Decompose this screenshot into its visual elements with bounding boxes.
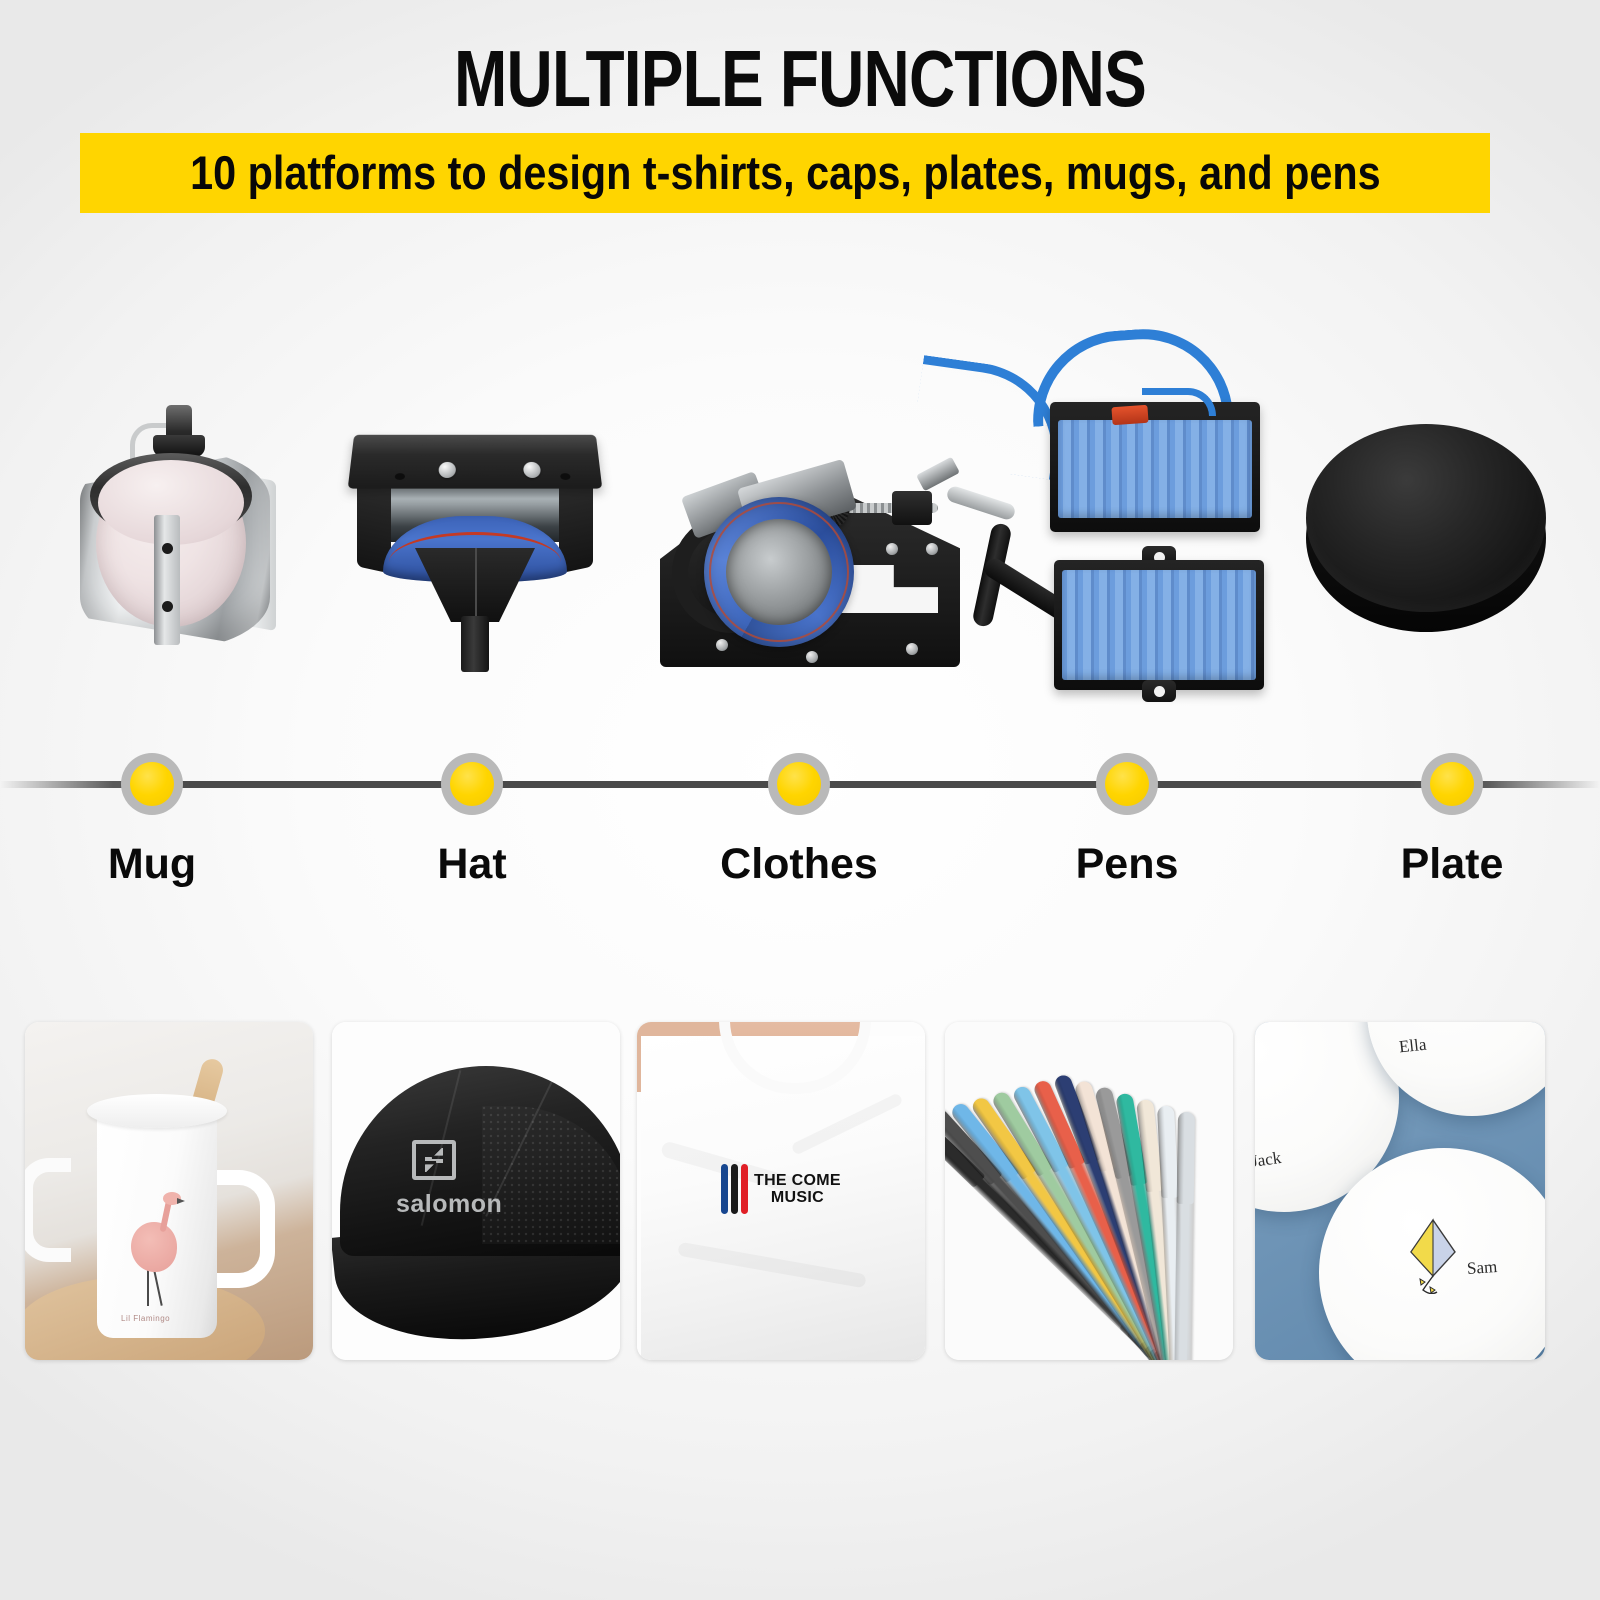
- salomon-wordmark: salomon: [396, 1190, 502, 1219]
- mug-photo-lid: [87, 1094, 227, 1128]
- timeline-node-plate[interactable]: [1421, 753, 1483, 815]
- timeline-label-mug: Mug: [108, 838, 196, 890]
- timeline: [0, 753, 1600, 815]
- timeline-label-pens: Pens: [1076, 838, 1179, 890]
- photo-flamingo-mug[interactable]: Lil Flamingo: [25, 1022, 313, 1360]
- logo-line-2: MUSIC: [754, 1189, 841, 1206]
- mug-photo-background-cup-handle: [25, 1158, 71, 1262]
- tshirt-printed-logo: THE COME MUSIC: [721, 1164, 841, 1214]
- photo-marker-pens[interactable]: [945, 1022, 1233, 1360]
- hat-press-screw: [438, 462, 456, 478]
- hero-product-row: [0, 300, 1600, 720]
- kite-drawing-icon: [1405, 1218, 1461, 1294]
- photo-printed-tshirt[interactable]: THE COME MUSIC: [637, 1022, 925, 1360]
- timeline-label-plate: Plate: [1401, 838, 1504, 890]
- page-title: MULTIPLE FUNCTIONS: [160, 38, 1440, 120]
- product-mug-heat-press-wrap: [70, 405, 290, 665]
- marker-pen-cap: [1177, 1112, 1195, 1204]
- machine-screw: [716, 639, 728, 651]
- product-plate-press-pad: [1300, 410, 1560, 660]
- product-infographic: MULTIPLE FUNCTIONS 10 platforms to desig…: [0, 0, 1600, 1600]
- subtitle-banner: 10 platforms to design t-shirts, caps, p…: [80, 133, 1490, 213]
- timeline-node-pens[interactable]: [1096, 753, 1158, 815]
- timeline-node-mug[interactable]: [121, 753, 183, 815]
- timeline-labels: Mug Hat Clothes Pens Plate: [0, 838, 1600, 904]
- machine-screw: [886, 543, 898, 555]
- plate-pad-surface: [1306, 424, 1546, 612]
- hat-press-hole: [560, 473, 571, 480]
- timeline-label-hat: Hat: [437, 838, 506, 890]
- machine-blue-silicone-wrap: [704, 497, 854, 647]
- pen-platform-silicone-ribs: [1062, 570, 1256, 680]
- logo-line-1: THE COME: [754, 1172, 841, 1189]
- hat-press-support-funnel: [415, 548, 535, 622]
- logo-wordmark: THE COME MUSIC: [754, 1172, 841, 1206]
- product-mug-press-machine: [630, 355, 1010, 685]
- hat-press-screw: [523, 462, 541, 478]
- photo-painted-plates[interactable]: Ella Jack Sam: [1255, 1022, 1545, 1360]
- logo-bars-icon: [721, 1164, 748, 1214]
- timeline-node-clothes[interactable]: [768, 753, 830, 815]
- mug-wrap-hinge: [154, 515, 180, 645]
- machine-screw: [926, 543, 938, 555]
- pen-platform-mount-lug: [1142, 680, 1176, 702]
- flamingo-body-icon: [131, 1222, 177, 1272]
- mug-photo-caption: Lil Flamingo: [121, 1314, 170, 1323]
- salomon-logo-icon: [412, 1140, 456, 1180]
- hat-press-mount-stem: [461, 616, 489, 672]
- timeline-node-hat[interactable]: [441, 753, 503, 815]
- pen-platform-lower-tray: [1054, 560, 1264, 690]
- machine-screw: [906, 643, 918, 655]
- plate-name-sam: Sam: [1466, 1257, 1498, 1279]
- subtitle-text: 10 platforms to design t-shirts, caps, p…: [190, 148, 1381, 198]
- mug-wrap-latch: [166, 405, 192, 453]
- pen-platform-heated-tray: [1050, 402, 1260, 532]
- photo-row: Lil Flamingo salomon: [0, 1022, 1600, 1360]
- machine-lever-arm: [945, 485, 1017, 522]
- marker-pen: [1173, 1112, 1195, 1360]
- photo-salomon-cap[interactable]: salomon: [332, 1022, 620, 1360]
- plate-name-ella: Ella: [1398, 1035, 1427, 1058]
- hat-press-top-plate: [348, 435, 603, 489]
- machine-shaft-block: [892, 491, 932, 525]
- timeline-label-clothes: Clothes: [720, 838, 878, 890]
- hat-press-hole: [395, 473, 406, 480]
- product-hat-press-platen: [345, 420, 605, 675]
- flamingo-leg-icon: [147, 1270, 149, 1306]
- flamingo-beak-icon: [177, 1198, 185, 1204]
- product-pen-press-platforms: [1020, 330, 1310, 720]
- pen-platform-silicone-ribs: [1058, 420, 1252, 518]
- machine-screw: [806, 651, 818, 663]
